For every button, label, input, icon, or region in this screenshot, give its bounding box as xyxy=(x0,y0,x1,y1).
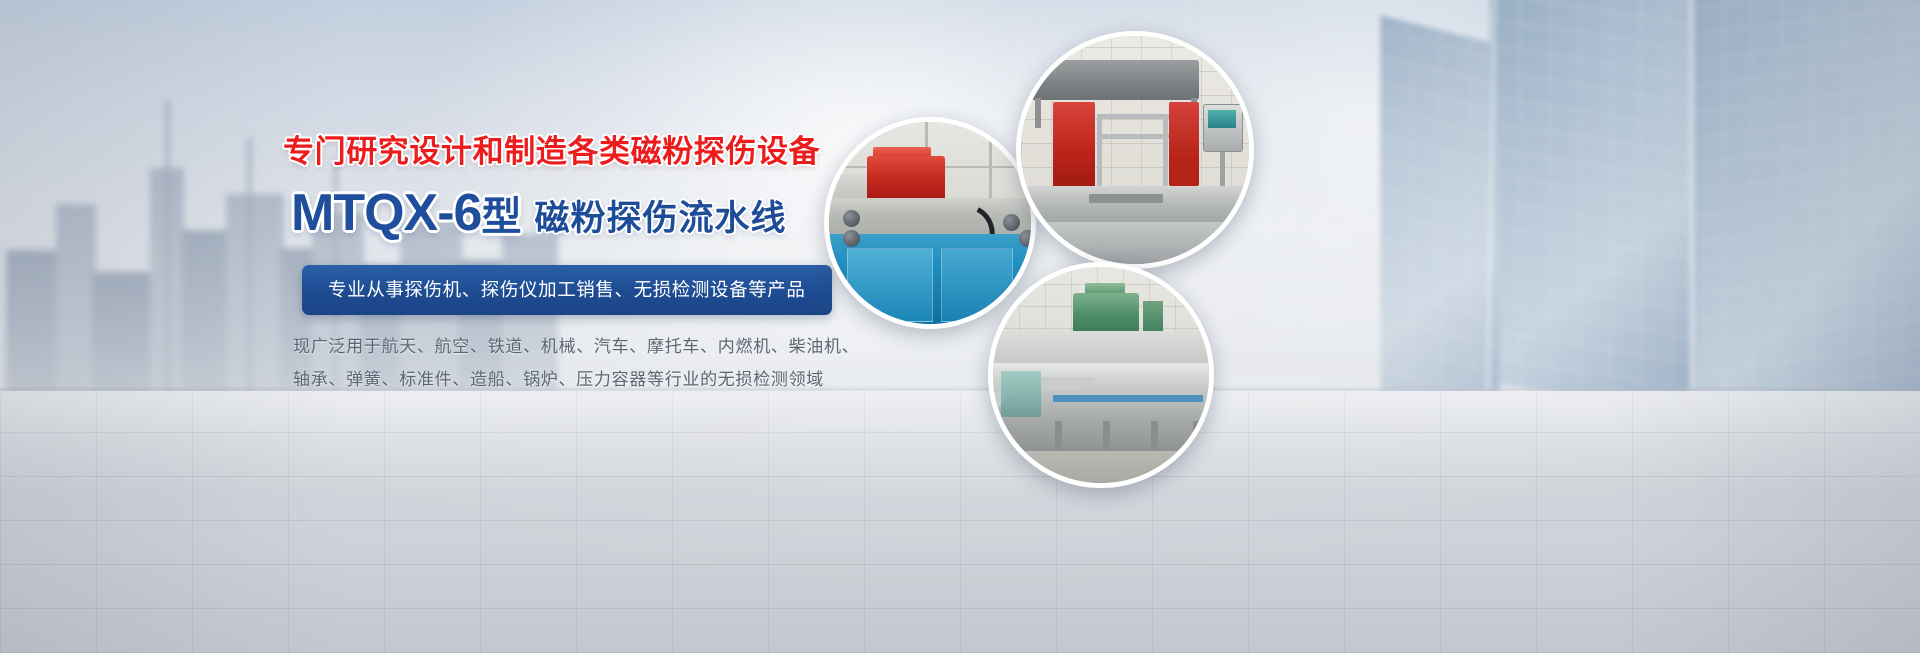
banner-description: 现广泛用于航天、航空、铁道、机械、汽车、摩托车、内燃机、柴油机、 轴承、弹簧、标… xyxy=(293,330,859,396)
product-model-suffix: 型 xyxy=(481,195,520,239)
services-pill-label: 专业从事探伤机、探伤仪加工销售、无损检测设备等产品 xyxy=(302,265,832,315)
banner-copy: 专门研究设计和制造各类磁粉探伤设备 MTQX-6型 磁粉探伤流水线 专业从事探伤… xyxy=(0,0,860,653)
banner-title: MTQX-6型 磁粉探伤流水线 xyxy=(291,183,786,243)
hero-banner: 专门研究设计和制造各类磁粉探伤设备 MTQX-6型 磁粉探伤流水线 专业从事探伤… xyxy=(0,0,1920,653)
photo-magnetic-particle-production-line xyxy=(988,262,1214,488)
description-line-1: 现广泛用于航天、航空、铁道、机械、汽车、摩托车、内燃机、柴油机、 xyxy=(293,330,859,363)
description-line-2: 轴承、弹簧、标准件、造船、锅炉、压力容器等行业的无损检测领域 xyxy=(293,363,859,396)
product-subtitle: 磁粉探伤流水线 xyxy=(534,190,786,241)
product-model: MTQX-6型 xyxy=(291,183,520,243)
photo-inspection-workbench-hood xyxy=(1016,31,1254,269)
product-model-code: MTQX-6 xyxy=(291,184,481,242)
banner-headline: 专门研究设计和制造各类磁粉探伤设备 xyxy=(283,126,820,171)
